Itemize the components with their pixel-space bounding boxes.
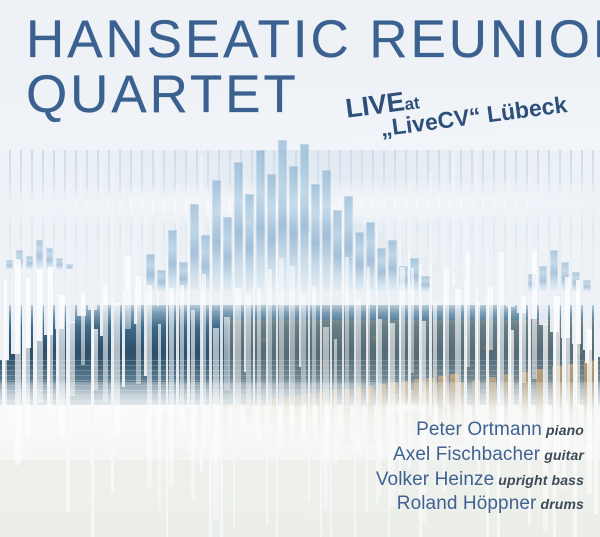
member-role: upright bass — [494, 472, 584, 488]
title-line-1: HANSEATIC REUNION — [26, 14, 600, 66]
member-name: Axel Fischbacher — [393, 444, 540, 465]
member-name: Volker Heinze — [376, 469, 494, 490]
member-role: piano — [542, 422, 584, 438]
member-name: Peter Ortmann — [416, 419, 542, 440]
member-name: Roland Höppner — [397, 493, 537, 514]
member-row: Roland Höppner drums — [376, 492, 584, 517]
member-list: Peter Ortmann pianoAxel Fischbacher guit… — [376, 418, 584, 517]
sky-band — [0, 150, 600, 320]
member-role: drums — [536, 496, 584, 512]
member-row: Axel Fischbacher guitar — [376, 443, 584, 468]
member-row: Volker Heinze upright bass — [376, 468, 584, 493]
album-cover: HANSEATIC REUNION QUARTET LIVEat „LiveCV… — [0, 0, 600, 537]
member-row: Peter Ortmann piano — [376, 418, 584, 443]
member-role: guitar — [540, 447, 584, 463]
